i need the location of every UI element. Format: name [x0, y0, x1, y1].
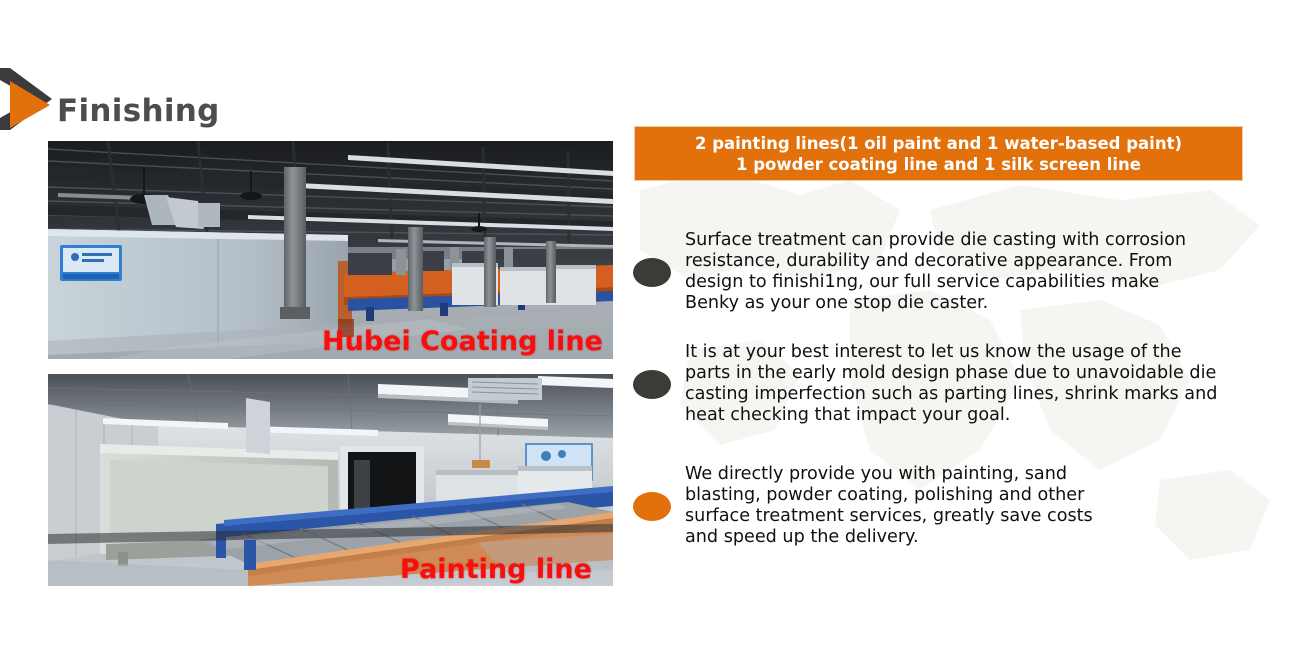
slide-canvas: Finishing: [0, 0, 1300, 658]
bullet-line: Surface treatment can provide die castin…: [685, 230, 1186, 251]
banner-line-1: 2 painting lines(1 oil paint and 1 water…: [695, 133, 1182, 154]
banner-line-2: 1 powder coating line and 1 silk screen …: [736, 154, 1141, 175]
caption-hubei-coating-line: Hubei Coating line: [322, 326, 603, 357]
arrow-logo: [0, 66, 62, 136]
bullet-item-1: Surface treatment can provide die castin…: [633, 230, 1263, 314]
bullet-line: heat checking that impact your goal.: [685, 405, 1217, 426]
bullet-line: It is at your best interest to let us kn…: [685, 342, 1217, 363]
bullet-line: design to finishi1ng, our full service c…: [685, 272, 1186, 293]
bullet-line: casting imperfection such as parting lin…: [685, 384, 1217, 405]
bullet-dot-icon: [633, 258, 671, 287]
highlight-banner: 2 painting lines(1 oil paint and 1 water…: [634, 126, 1243, 181]
page-title: Finishing: [57, 93, 220, 129]
bullet-item-2: It is at your best interest to let us kn…: [633, 342, 1263, 426]
bullet-text-1: Surface treatment can provide die castin…: [685, 230, 1186, 314]
bullet-line: and speed up the delivery.: [685, 527, 1093, 548]
bullet-line: surface treatment services, greatly save…: [685, 506, 1093, 527]
bullet-text-2: It is at your best interest to let us kn…: [685, 342, 1217, 426]
bullet-dot-icon: [633, 370, 671, 399]
bullet-line: parts in the early mold design phase due…: [685, 363, 1217, 384]
bullet-text-3: We directly provide you with painting, s…: [685, 464, 1093, 548]
caption-painting-line: Painting line: [400, 554, 592, 585]
bullet-line: We directly provide you with painting, s…: [685, 464, 1093, 485]
bullet-line: resistance, durability and decorative ap…: [685, 251, 1186, 272]
bullet-dot-icon: [633, 492, 671, 521]
bullet-line: blasting, powder coating, polishing and …: [685, 485, 1093, 506]
bullet-line: Benky as your one stop die caster.: [685, 293, 1186, 314]
bullet-item-3: We directly provide you with painting, s…: [633, 464, 1263, 548]
